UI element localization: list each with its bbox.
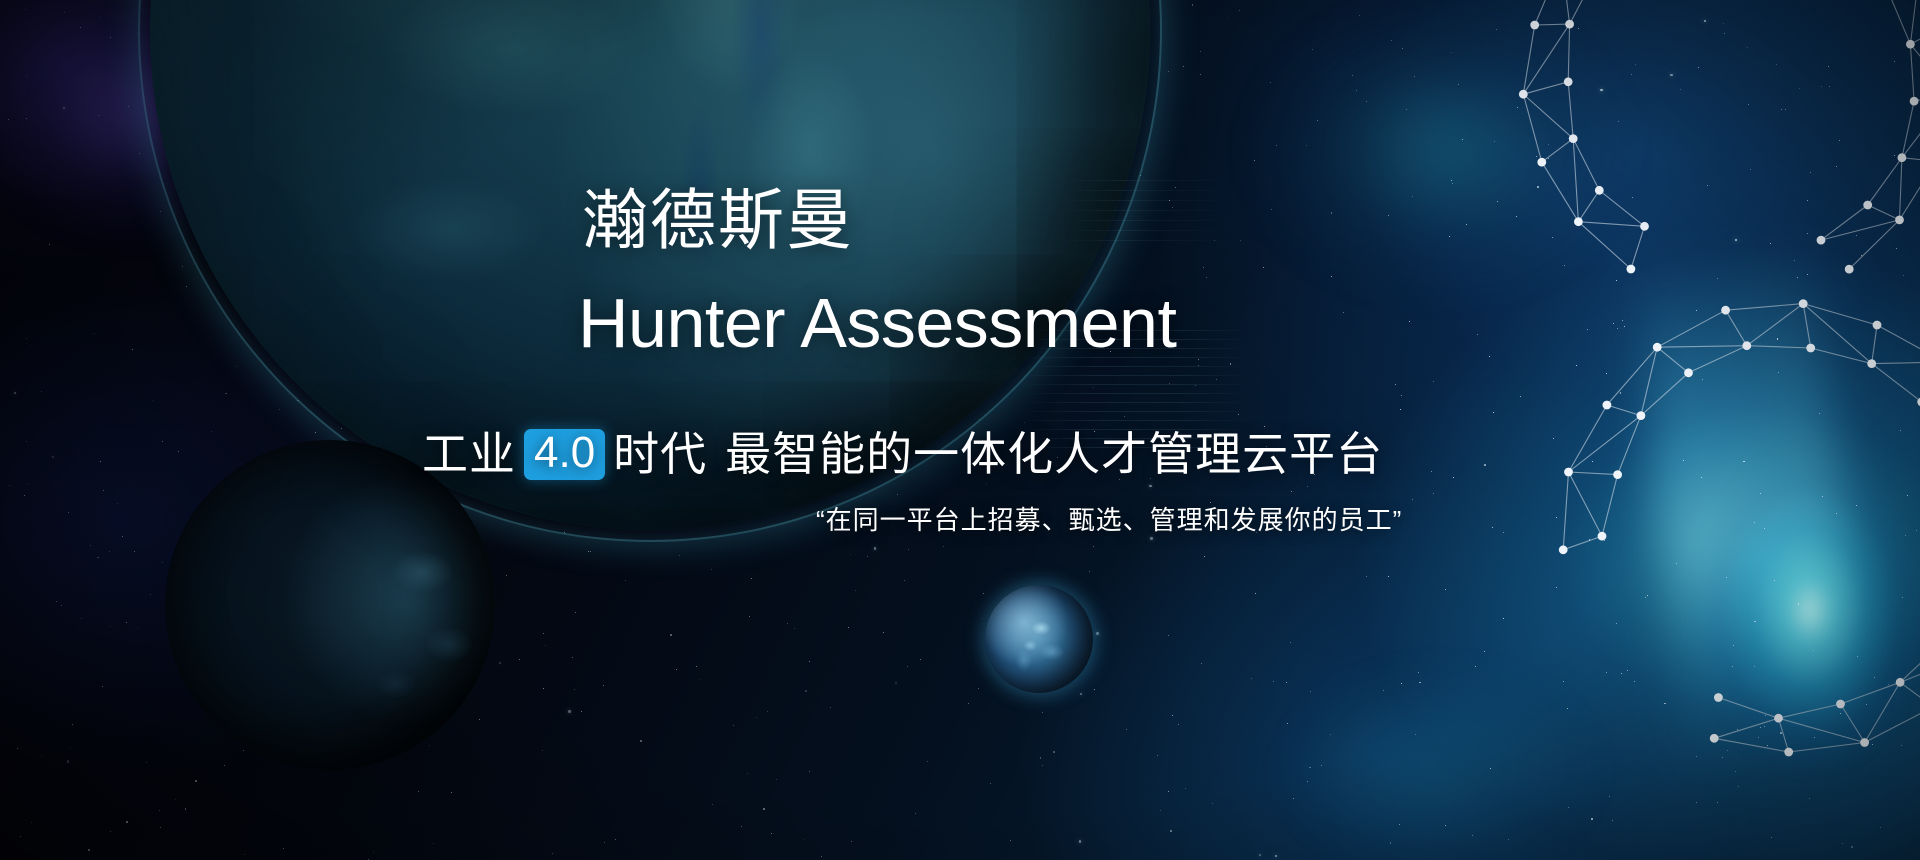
brand-title-chinese: 瀚德斯曼	[582, 187, 854, 253]
dark-moon-rim-light	[165, 440, 495, 770]
hero-tagline: 工业 4.0 时代 最智能的一体化人才管理云平台	[422, 428, 1383, 481]
hero-subtitle: “在同一平台上招募、甄选、管理和发展你的员工”	[816, 505, 1402, 536]
tagline-era: 时代	[613, 428, 707, 481]
tagline-main: 最智能的一体化人才管理云平台	[725, 428, 1383, 481]
hero-banner: 瀚德斯曼 Hunter Assessment 工业 4.0 时代 最智能的一体化…	[0, 0, 1920, 860]
blue-moon-surface	[985, 585, 1093, 693]
nebula-bright-core	[1600, 400, 1920, 820]
scanline-artifact-upper	[1060, 180, 1240, 250]
nebula-wisp-lower	[1230, 620, 1650, 860]
nebula-wisp-upper	[1180, 0, 1700, 360]
brand-title-english: Hunter Assessment	[578, 288, 1176, 358]
industry-version-badge: 4.0	[524, 429, 605, 480]
tagline-before: 工业	[422, 428, 516, 481]
blue-moon	[985, 585, 1093, 693]
